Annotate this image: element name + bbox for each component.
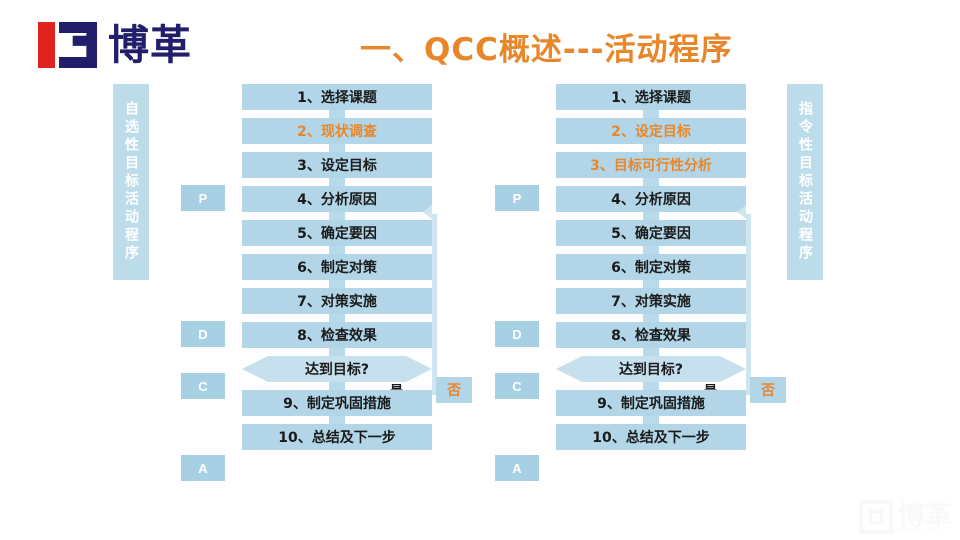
flow-step-box[interactable]: 8、检查效果 xyxy=(556,322,746,348)
flow-connector xyxy=(242,416,432,424)
decision-diamond[interactable]: 达到目标? xyxy=(556,356,746,382)
flow-connector xyxy=(556,212,746,220)
flowchart-left: 1、选择课题2、现状调查3、设定目标4、分析原因5、确定要因6、制定对策7、对策… xyxy=(242,84,432,450)
flow-connector xyxy=(242,246,432,254)
slide-canvas: 博革 一、QCC概述---活动程序 自选性目标活动程序 指令性目标活动程序 P … xyxy=(0,0,960,540)
flow-connector xyxy=(556,314,746,322)
flow-connector: 是 xyxy=(242,382,432,390)
no-label-right: 否 xyxy=(750,377,786,403)
pdca-chip-act-right: A xyxy=(495,455,539,481)
flow-step-box[interactable]: 1、选择课题 xyxy=(556,84,746,110)
flow-connector xyxy=(556,416,746,424)
flow-connector xyxy=(556,348,746,356)
sidebar-right-label: 指令性目标活动程序 xyxy=(787,84,823,280)
sidebar-left-text: 自选性目标活动程序 xyxy=(121,101,141,263)
flow-step-box[interactable]: 4、分析原因 xyxy=(242,186,432,212)
pdca-chip-plan-right: P xyxy=(495,185,539,211)
pdca-chip-act-left: A xyxy=(181,455,225,481)
flow-step-box[interactable]: 7、对策实施 xyxy=(242,288,432,314)
flow-connector: 是 xyxy=(556,382,746,390)
flow-step-box[interactable]: 10、总结及下一步 xyxy=(242,424,432,450)
flow-step-box[interactable]: 4、分析原因 xyxy=(556,186,746,212)
feedback-line-vertical-left xyxy=(432,214,437,392)
flow-step-box[interactable]: 7、对策实施 xyxy=(556,288,746,314)
decision-diamond[interactable]: 达到目标? xyxy=(242,356,432,382)
flow-connector xyxy=(242,280,432,288)
flow-connector xyxy=(242,178,432,186)
flow-connector xyxy=(242,110,432,118)
flow-connector xyxy=(556,246,746,254)
flow-step-box[interactable]: 9、制定巩固措施 xyxy=(556,390,746,416)
pdca-chip-check-right: C xyxy=(495,373,539,399)
watermark-url: www.bogesoft.com xyxy=(859,525,942,534)
pdca-chip-check-left: C xyxy=(181,373,225,399)
flow-step-box[interactable]: 3、设定目标 xyxy=(242,152,432,178)
feedback-arrowhead-right xyxy=(737,205,746,219)
logo-navy-g xyxy=(59,22,97,68)
pdca-chip-do-right: D xyxy=(495,321,539,347)
flow-step-box[interactable]: 2、设定目标 xyxy=(556,118,746,144)
logo-red-bar xyxy=(38,22,55,68)
flow-step-box[interactable]: 8、检查效果 xyxy=(242,322,432,348)
bg-monogram-icon xyxy=(38,22,98,68)
sidebar-right-text: 指令性目标活动程序 xyxy=(795,101,815,263)
pdca-chip-do-left: D xyxy=(181,321,225,347)
sidebar-left-label: 自选性目标活动程序 xyxy=(113,84,149,280)
flow-connector xyxy=(242,144,432,152)
feedback-arrowhead-left xyxy=(423,205,432,219)
page-title: 一、QCC概述---活动程序 xyxy=(360,24,732,69)
flow-step-box[interactable]: 5、确定要因 xyxy=(242,220,432,246)
flow-step-box[interactable]: 1、选择课题 xyxy=(242,84,432,110)
brand-logo: 博革 xyxy=(38,22,192,68)
flow-connector xyxy=(242,348,432,356)
flow-step-box[interactable]: 9、制定巩固措施 xyxy=(242,390,432,416)
brand-name: 博革 xyxy=(108,22,192,68)
flow-step-box[interactable]: 6、制定对策 xyxy=(242,254,432,280)
flow-step-box[interactable]: 6、制定对策 xyxy=(556,254,746,280)
decision-label: 达到目标? xyxy=(556,356,746,382)
flow-connector xyxy=(556,144,746,152)
pdca-chip-plan-left: P xyxy=(181,185,225,211)
decision-label: 达到目标? xyxy=(242,356,432,382)
feedback-line-vertical-right xyxy=(746,214,751,392)
flow-connector xyxy=(556,110,746,118)
flow-connector xyxy=(556,280,746,288)
no-label-left: 否 xyxy=(436,377,472,403)
flow-connector xyxy=(242,314,432,322)
flow-connector xyxy=(242,212,432,220)
flow-connector xyxy=(556,178,746,186)
flow-step-box[interactable]: 2、现状调查 xyxy=(242,118,432,144)
watermark: 博革 www.bogesoft.com xyxy=(859,500,952,534)
flow-step-box[interactable]: 3、目标可行性分析 xyxy=(556,152,746,178)
flowchart-right: 1、选择课题2、设定目标3、目标可行性分析4、分析原因5、确定要因6、制定对策7… xyxy=(556,84,746,450)
flow-step-box[interactable]: 10、总结及下一步 xyxy=(556,424,746,450)
flow-step-box[interactable]: 5、确定要因 xyxy=(556,220,746,246)
